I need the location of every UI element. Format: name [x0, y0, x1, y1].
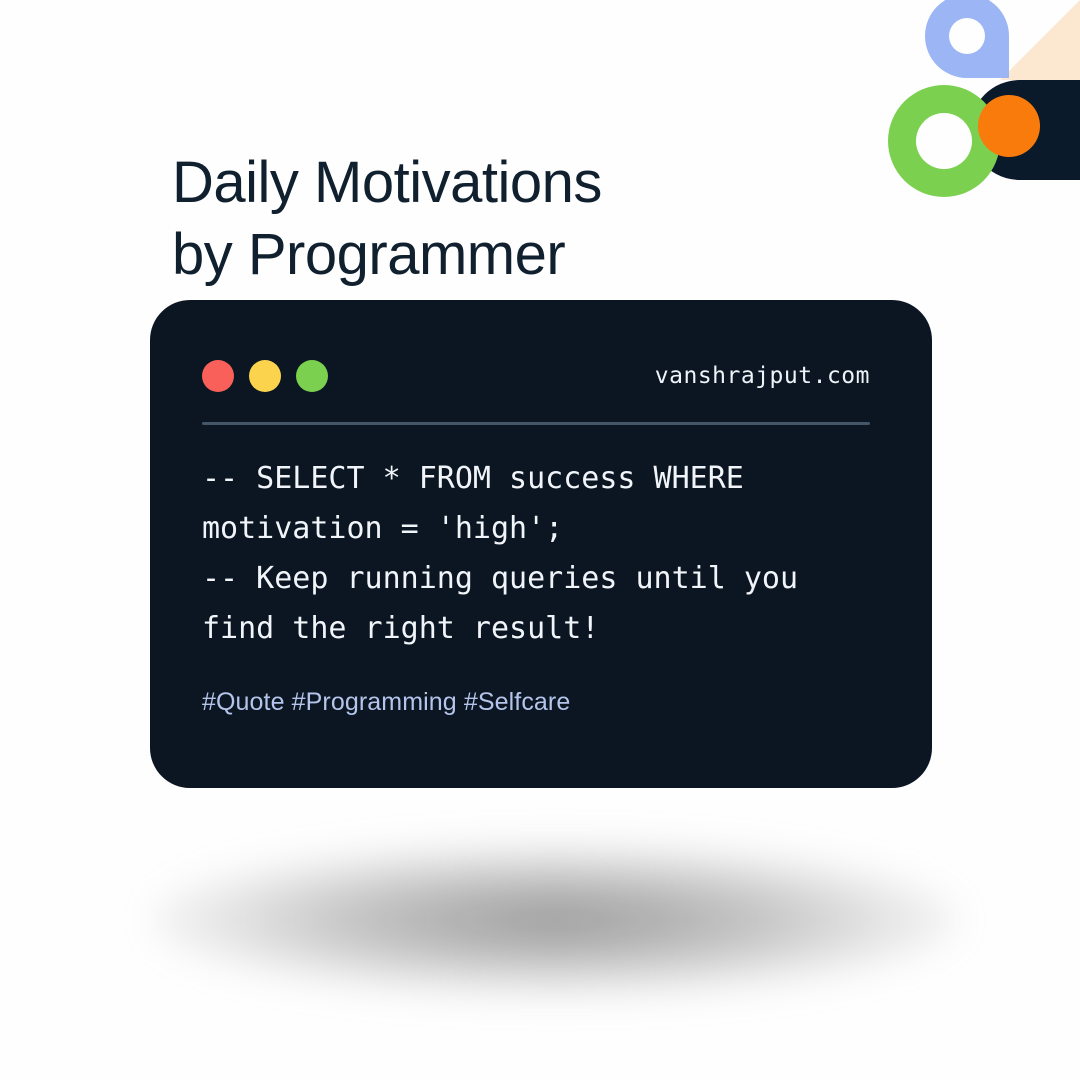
page-title: Daily Motivations by Programmer — [172, 147, 812, 291]
terminal-divider — [202, 422, 870, 425]
navy-blob-icon — [970, 80, 1080, 180]
hashtag-list: #Quote #Programming #Selfcare — [202, 688, 870, 717]
terminal-card: vanshrajput.com -- SELECT * FROM success… — [150, 300, 932, 788]
green-ring-icon — [888, 85, 1000, 197]
beige-wedge-icon — [1000, 0, 1080, 80]
terminal-domain-label: vanshrajput.com — [655, 363, 870, 389]
card-drop-shadow — [155, 845, 955, 995]
maximize-dot-icon[interactable] — [296, 360, 328, 392]
window-controls — [202, 360, 328, 392]
brand-logo-cluster — [880, 0, 1080, 205]
orange-dot-icon — [978, 95, 1040, 157]
code-block: -- SELECT * FROM success WHERE motivatio… — [202, 454, 870, 654]
minimize-dot-icon[interactable] — [249, 360, 281, 392]
blue-pin-icon — [925, 0, 1009, 78]
terminal-header: vanshrajput.com — [202, 356, 870, 396]
close-dot-icon[interactable] — [202, 360, 234, 392]
